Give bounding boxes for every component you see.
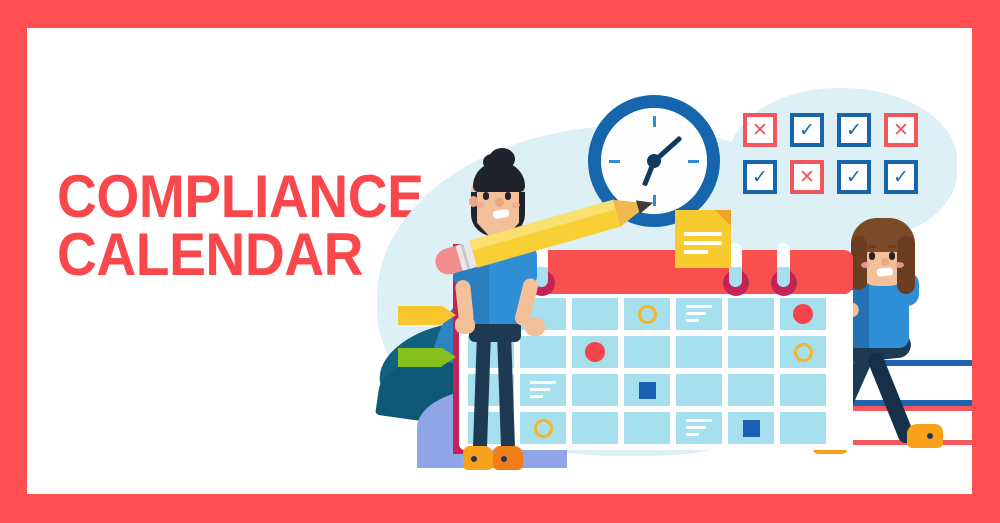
yellow-ring-icon bbox=[794, 343, 813, 362]
checkbox-cross[interactable]: ✕ bbox=[743, 113, 777, 147]
woman-cheek-left bbox=[861, 262, 870, 268]
man-cheek-right bbox=[511, 202, 520, 208]
compliance-calendar-illustration: ✕ ✓ ✓ ✕ ✓ ✕ ✓ ✓ bbox=[27, 28, 972, 494]
man-hand-left bbox=[455, 316, 475, 334]
checkbox-check[interactable]: ✓ bbox=[884, 160, 918, 194]
woman-eyebrow-left bbox=[868, 245, 877, 248]
calendar-cell[interactable] bbox=[728, 412, 774, 444]
calendar-cell[interactable] bbox=[624, 412, 670, 444]
yellow-ring-icon bbox=[638, 305, 657, 324]
check-icon: ✓ bbox=[747, 164, 773, 190]
check-icon: ✓ bbox=[841, 117, 867, 143]
woman-shoe-right bbox=[907, 424, 943, 448]
calendar-peg bbox=[777, 243, 790, 287]
man-cheek-left bbox=[476, 202, 485, 208]
calendar-cell[interactable] bbox=[728, 374, 774, 406]
red-dot-icon bbox=[793, 304, 813, 324]
cross-icon: ✕ bbox=[794, 164, 820, 190]
man-eyebrow-left bbox=[482, 185, 490, 188]
yellow-note-icon bbox=[675, 210, 731, 268]
man-shoe-left bbox=[463, 446, 493, 470]
man-leg-left bbox=[473, 326, 491, 454]
calendar-cell[interactable] bbox=[676, 412, 722, 444]
check-icon: ✓ bbox=[888, 164, 914, 190]
calendar-cell[interactable] bbox=[676, 336, 722, 368]
blue-square-icon bbox=[743, 420, 760, 437]
checkbox-cross[interactable]: ✕ bbox=[790, 160, 824, 194]
clock-tick-12 bbox=[653, 116, 656, 127]
checkbox-check[interactable]: ✓ bbox=[837, 160, 871, 194]
checkbox-check[interactable]: ✓ bbox=[837, 113, 871, 147]
note-lines-icon bbox=[686, 419, 712, 436]
calendar-cell[interactable] bbox=[728, 298, 774, 330]
note-lines-icon bbox=[686, 305, 712, 322]
man-eye-right bbox=[505, 192, 511, 200]
calendar-cell[interactable] bbox=[676, 298, 722, 330]
clock-center-hub bbox=[647, 154, 661, 168]
man-shoe-right bbox=[493, 446, 523, 470]
man-eyebrow-right bbox=[504, 185, 512, 188]
woman-nose bbox=[881, 258, 889, 266]
man-hair-bun bbox=[489, 148, 515, 170]
checkbox-check[interactable]: ✓ bbox=[743, 160, 777, 194]
calendar-cell[interactable] bbox=[780, 298, 826, 330]
woman-eye-right bbox=[889, 252, 895, 260]
calendar-cell[interactable] bbox=[624, 298, 670, 330]
clock-tick-3 bbox=[688, 160, 699, 163]
woman-mouth bbox=[877, 267, 894, 277]
calendar-cell[interactable] bbox=[676, 374, 722, 406]
man-leg-right bbox=[497, 326, 515, 454]
compliance-checkbox-grid: ✕ ✓ ✓ ✕ ✓ ✕ ✓ ✓ bbox=[743, 113, 933, 203]
man-with-pencil bbox=[427, 140, 587, 470]
woman-eye-left bbox=[869, 252, 875, 260]
man-eye-left bbox=[483, 192, 489, 200]
check-icon: ✓ bbox=[841, 164, 867, 190]
man-hand-right bbox=[525, 318, 545, 336]
calendar-cell[interactable] bbox=[780, 412, 826, 444]
red-dot-icon bbox=[585, 342, 605, 362]
checkbox-check[interactable]: ✓ bbox=[790, 113, 824, 147]
woman-eyebrow-right bbox=[887, 245, 896, 248]
clock-tick-9 bbox=[609, 160, 620, 163]
pencil-tip bbox=[636, 196, 655, 214]
cross-icon: ✕ bbox=[747, 117, 773, 143]
calendar-cell[interactable] bbox=[624, 336, 670, 368]
banner-frame: COMPLIANCE CALENDAR bbox=[0, 0, 1000, 523]
check-icon: ✓ bbox=[794, 117, 820, 143]
cross-icon: ✕ bbox=[888, 117, 914, 143]
blue-square-icon bbox=[639, 382, 656, 399]
banner-inner: COMPLIANCE CALENDAR bbox=[27, 28, 972, 494]
checkbox-cross[interactable]: ✕ bbox=[884, 113, 918, 147]
calendar-cell[interactable] bbox=[780, 336, 826, 368]
calendar-cell[interactable] bbox=[728, 336, 774, 368]
calendar-cell[interactable] bbox=[780, 374, 826, 406]
man-nose bbox=[495, 198, 504, 207]
calendar-cell[interactable] bbox=[624, 374, 670, 406]
woman-cheek-right bbox=[895, 262, 904, 268]
